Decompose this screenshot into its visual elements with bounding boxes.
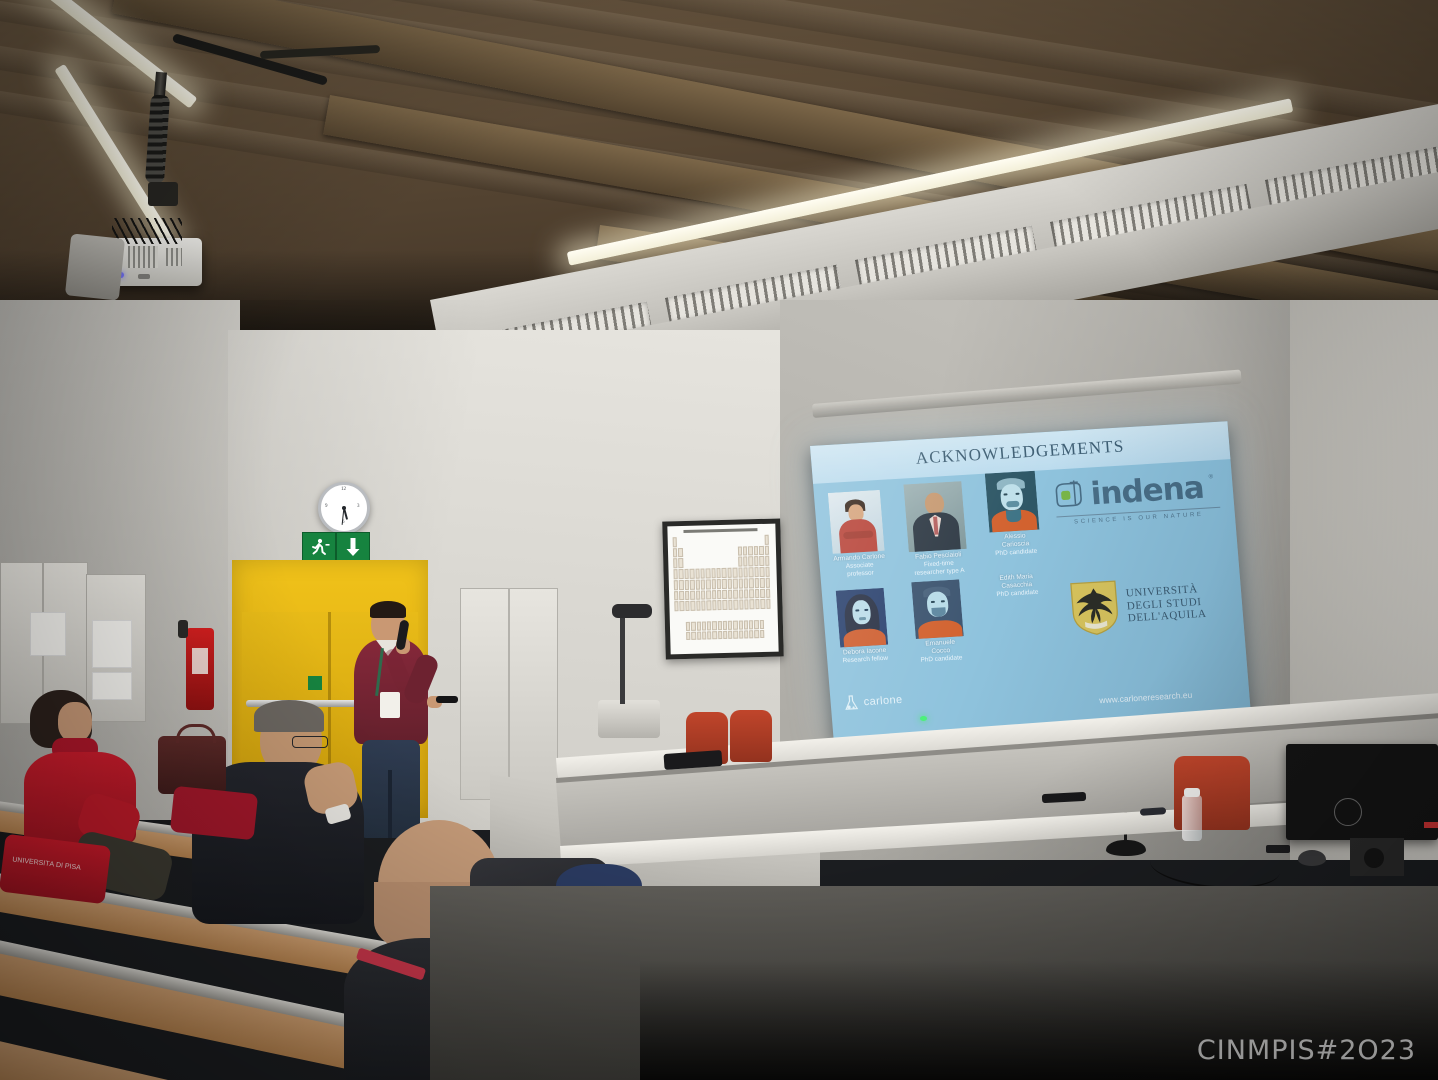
periodic-cell — [690, 580, 695, 590]
periodic-cell — [673, 537, 678, 547]
periodic-cell — [743, 535, 748, 545]
periodic-cell — [684, 569, 689, 579]
periodic-cell — [705, 536, 710, 546]
periodic-cell — [691, 622, 695, 631]
periodic-cell — [679, 591, 684, 601]
periodic-cell — [749, 589, 754, 599]
red-jacket-on-bench — [170, 786, 258, 841]
projection-screen: ACKNOWLEDGEMENTS Armando Carlone Associa… — [810, 421, 1251, 745]
periodic-cell — [749, 557, 754, 567]
periodic-cell — [700, 547, 705, 557]
periodic-cell — [706, 590, 711, 600]
periodic-cell — [673, 559, 678, 569]
periodic-cell — [749, 630, 753, 639]
periodic-cell — [759, 535, 764, 545]
periodic-cell — [764, 545, 769, 555]
periodic-cell — [734, 600, 739, 610]
periodic-cell — [761, 599, 766, 609]
periodic-cell — [739, 589, 744, 599]
document-camera — [598, 700, 660, 738]
periodic-cell — [717, 590, 722, 600]
periodic-cell — [695, 558, 700, 568]
periodic-cell — [766, 588, 771, 598]
presentation-remote[interactable] — [436, 696, 458, 703]
exit-sign-down-arrow — [336, 532, 370, 562]
periodic-cell — [727, 568, 732, 578]
periodic-cell — [755, 630, 759, 639]
periodic-cell — [744, 620, 748, 629]
periodic-cell — [738, 568, 743, 578]
periodic-cell — [722, 579, 727, 589]
periodic-cell — [766, 599, 771, 609]
periodic-cell — [685, 590, 690, 600]
periodic-cell — [700, 558, 705, 568]
periodic-cell — [755, 578, 760, 588]
periodic-cell — [691, 631, 695, 640]
periodic-cell — [744, 600, 749, 610]
periodic-cell — [678, 548, 683, 558]
presenter-hair — [370, 601, 406, 618]
periodic-cell — [673, 569, 678, 579]
periodic-cell — [739, 600, 744, 610]
periodic-cell — [754, 620, 758, 629]
periodic-cell — [744, 589, 749, 599]
periodic-cell — [748, 546, 753, 556]
periodic-cell — [754, 567, 759, 577]
periodic-cell — [694, 547, 699, 557]
periodic-cell — [727, 557, 732, 567]
periodic-cell — [679, 580, 684, 590]
chair[interactable] — [730, 710, 772, 762]
exit-sign-running-man — [302, 532, 336, 562]
periodic-cell — [721, 536, 726, 546]
periodic-cell — [733, 578, 738, 588]
notice-sheet — [30, 612, 66, 656]
periodic-cell — [721, 547, 726, 557]
periodic-cell — [711, 579, 716, 589]
hand-sanitizer-bottle[interactable] — [1182, 795, 1202, 841]
periodic-cell — [706, 568, 711, 578]
dell-monitor[interactable] — [1286, 744, 1438, 840]
periodic-cell — [712, 600, 717, 610]
periodic-cell — [723, 600, 728, 610]
periodic-cell — [716, 547, 721, 557]
periodic-cell — [738, 546, 743, 556]
periodic-cell — [716, 557, 721, 567]
handbag — [158, 736, 226, 794]
periodic-cell — [685, 601, 690, 611]
periodic-cell — [718, 631, 722, 640]
periodic-cell — [732, 557, 737, 567]
periodic-cell — [685, 580, 690, 590]
periodic-cell — [717, 621, 721, 630]
lanthanide-grid — [686, 620, 764, 640]
periodic-cell — [696, 601, 701, 611]
periodic-cell — [728, 630, 732, 639]
periodic-cell — [759, 546, 764, 556]
periodic-cell — [712, 621, 716, 630]
periodic-cell — [737, 535, 742, 545]
periodic-cell — [701, 601, 706, 611]
periodic-cell — [760, 620, 765, 629]
periodic-cell — [674, 591, 679, 601]
periodic-cell — [674, 580, 679, 590]
periodic-cell — [689, 547, 694, 557]
periodic-cell — [696, 622, 700, 631]
periodic-cell — [706, 579, 711, 589]
periodic-cell — [674, 601, 679, 611]
periodic-cell — [749, 567, 754, 577]
periodic-cell — [694, 537, 699, 547]
periodic-cell — [689, 537, 694, 547]
lecture-hall-photo: 12 3 6 9 — [0, 0, 1438, 1080]
periodic-cell — [716, 536, 721, 546]
running-man-icon — [307, 537, 331, 557]
periodic-cell — [760, 567, 765, 577]
periodic-cell — [686, 631, 690, 640]
periodic-cell — [707, 621, 711, 630]
periodic-cell — [765, 567, 770, 577]
periodic-cell — [707, 601, 712, 611]
periodic-cell — [678, 537, 683, 547]
extinguisher-label — [192, 648, 208, 674]
periodic-cell — [733, 630, 737, 639]
periodic-cell — [702, 621, 706, 630]
periodic-cell — [697, 631, 701, 640]
periodic-cell — [744, 578, 749, 588]
periodic-cell — [684, 548, 689, 558]
periodic-cell — [711, 568, 716, 578]
periodic-cell — [760, 629, 765, 638]
sanitizer-pump[interactable] — [1184, 788, 1200, 797]
wall-clock: 12 3 6 9 — [318, 482, 370, 534]
periodic-cell — [743, 546, 748, 556]
monitor-power-led — [1424, 822, 1438, 828]
periodic-cell — [722, 568, 727, 578]
periodic-cell — [765, 578, 770, 588]
periodic-cell — [695, 569, 700, 579]
periodic-cell — [690, 590, 695, 600]
door-sign — [308, 676, 322, 690]
periodic-cell — [700, 536, 705, 546]
periodic-cell — [765, 556, 770, 566]
periodic-cell — [733, 589, 738, 599]
periodic-cell — [738, 557, 743, 567]
down-arrow-icon — [343, 536, 363, 558]
periodic-cell — [750, 599, 755, 609]
periodic-cell — [728, 589, 733, 599]
poster-title — [683, 528, 757, 533]
periodic-cell — [743, 557, 748, 567]
periodic-cell — [686, 622, 690, 631]
periodic-cell — [680, 601, 685, 611]
periodic-table-grid — [673, 535, 771, 611]
periodic-cell — [706, 558, 711, 568]
periodic-cell — [760, 578, 765, 588]
periodic-cell — [710, 536, 715, 546]
periodic-cell — [701, 579, 706, 589]
periodic-cell — [733, 621, 737, 630]
periodic-cell — [738, 578, 743, 588]
periodic-cell — [728, 579, 733, 589]
periodic-cell — [683, 537, 688, 547]
periodic-cell — [722, 589, 727, 599]
periodic-cell — [738, 620, 742, 629]
periodic-cell — [690, 569, 695, 579]
periodic-cell — [733, 568, 738, 578]
periodic-cell — [700, 569, 705, 579]
periodic-cell — [707, 631, 711, 640]
periodic-table-poster — [662, 518, 784, 659]
periodic-cell — [679, 569, 684, 579]
periodic-cell — [701, 590, 706, 600]
monitor-stand-hole — [1364, 848, 1384, 868]
periodic-cell — [722, 557, 727, 567]
screen-glare — [810, 421, 1251, 741]
periodic-cell — [712, 631, 716, 640]
periodic-cell — [690, 601, 695, 611]
periodic-cell — [695, 579, 700, 589]
periodic-cell — [689, 558, 694, 568]
periodic-cell — [726, 536, 731, 546]
ceiling-speaker — [65, 233, 125, 300]
periodic-cell — [717, 568, 722, 578]
slide-surface: ACKNOWLEDGEMENTS Armando Carlone Associa… — [810, 421, 1251, 741]
periodic-cell — [723, 630, 727, 639]
dell-logo — [1334, 798, 1362, 826]
periodic-cell — [748, 535, 753, 545]
notice-sheet — [92, 620, 132, 668]
microphone-base — [1106, 840, 1146, 856]
periodic-cell — [754, 556, 759, 566]
periodic-cell — [684, 558, 689, 568]
periodic-cell — [711, 547, 716, 557]
periodic-cell — [712, 590, 717, 600]
periodic-cell — [728, 600, 733, 610]
periodic-cell — [696, 590, 701, 600]
laser-pointer-dot — [920, 716, 927, 721]
periodic-cell — [728, 621, 732, 630]
periodic-cell — [744, 630, 748, 639]
periodic-cell — [702, 631, 706, 640]
periodic-cell — [755, 599, 760, 609]
periodic-cell — [717, 579, 722, 589]
periodic-cell — [711, 558, 716, 568]
eyeglasses — [292, 736, 328, 748]
periodic-cell — [727, 546, 732, 556]
periodic-cell — [754, 546, 759, 556]
event-watermark: CINMPIS#2O23 — [1197, 1035, 1416, 1066]
periodic-cell — [749, 620, 753, 629]
periodic-cell — [723, 621, 727, 630]
periodic-cell — [749, 578, 754, 588]
document-camera-arm — [620, 612, 625, 704]
periodic-cell — [732, 546, 737, 556]
periodic-cell — [732, 536, 737, 546]
periodic-cell — [743, 567, 748, 577]
periodic-cell — [760, 588, 765, 598]
periodic-cell — [717, 600, 722, 610]
periodic-cell — [753, 535, 758, 545]
usb-dongle — [1266, 845, 1290, 853]
periodic-cell — [764, 535, 769, 545]
periodic-cell — [759, 556, 764, 566]
extinguisher-hose — [178, 620, 188, 638]
periodic-cell — [679, 558, 684, 568]
periodic-cell — [739, 630, 743, 639]
handbag-strap — [176, 724, 216, 743]
periodic-cell — [705, 547, 710, 557]
document-camera-head — [612, 604, 652, 618]
projector-bracket — [148, 182, 178, 206]
periodic-cell — [673, 548, 678, 558]
periodic-cell — [755, 589, 760, 599]
